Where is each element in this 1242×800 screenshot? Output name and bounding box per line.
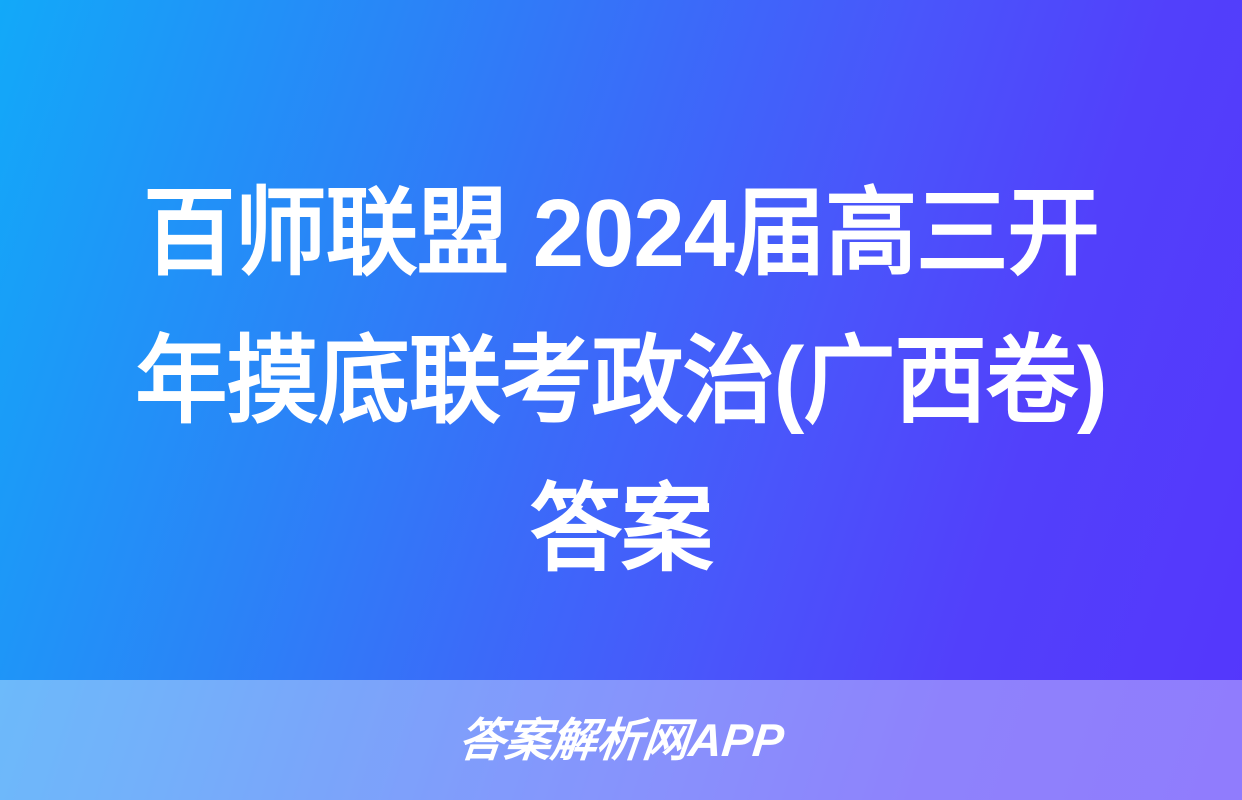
title-line-2: 年摸底联考政治(广西卷) (63, 308, 1179, 456)
title-line-3: 答案 (63, 456, 1179, 604)
watermark-label: 答案解析网APP (456, 717, 785, 763)
title-line-1: 百师联盟 2024届高三开 (63, 160, 1179, 308)
watermark-band: 答案解析网APP (0, 680, 1242, 800)
page-title: 百师联盟 2024届高三开 年摸底联考政治(广西卷) 答案 (0, 160, 1242, 604)
cover-card: 百师联盟 2024届高三开 年摸底联考政治(广西卷) 答案 答案解析网APP (0, 0, 1242, 800)
